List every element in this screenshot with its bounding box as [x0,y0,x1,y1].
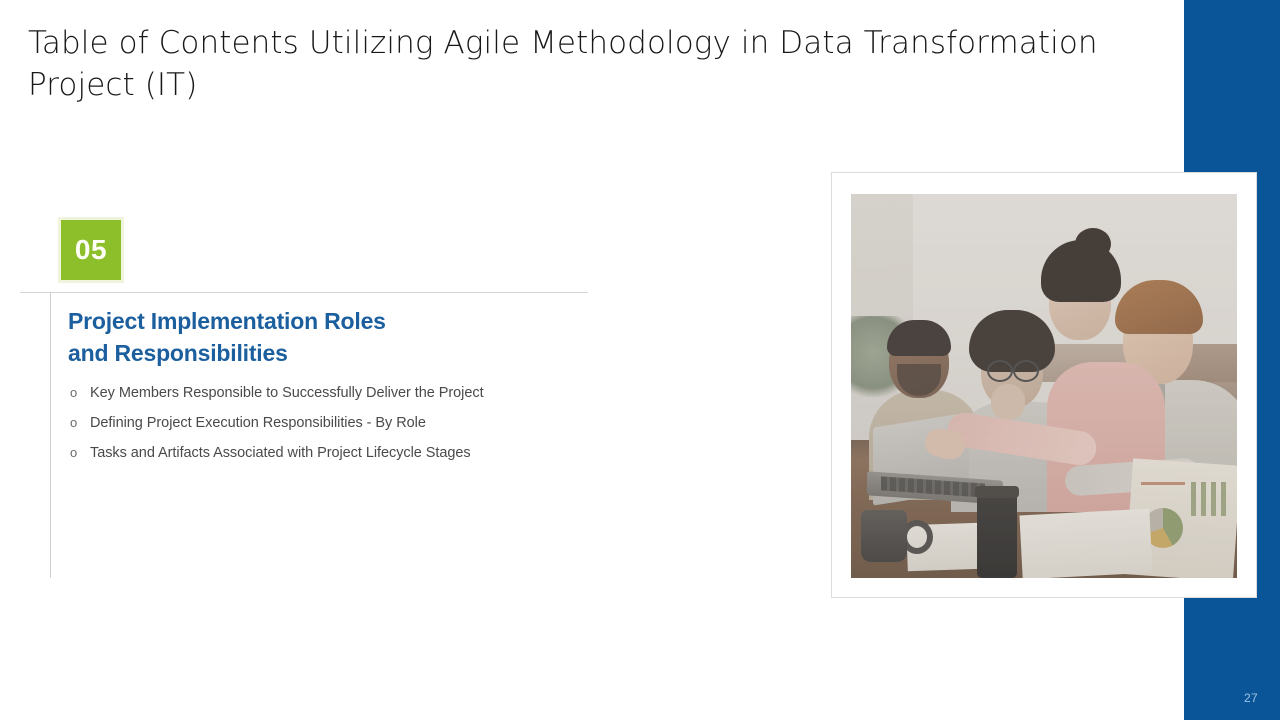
slide-canvas: Table of Contents Utilizing Agile Method… [0,0,1280,720]
bullet-marker-icon: o [70,438,90,468]
section-bullet-list: o Key Members Responsible to Successfull… [70,378,630,468]
list-item[interactable]: o Defining Project Execution Responsibil… [70,408,630,438]
list-item-label: Defining Project Execution Responsibilit… [90,408,426,438]
list-item[interactable]: o Key Members Responsible to Successfull… [70,378,630,408]
vertical-divider [50,292,51,578]
section-heading: Project Implementation Roles and Respons… [68,305,528,369]
team-collaboration-photo [851,194,1237,578]
section-number-badge: 05 [58,217,124,283]
bullet-marker-icon: o [70,408,90,438]
horizontal-divider [20,292,588,293]
bullet-marker-icon: o [70,378,90,408]
list-item-label: Tasks and Artifacts Associated with Proj… [90,438,471,468]
section-number-label: 05 [75,236,107,264]
page-title: Table of Contents Utilizing Agile Method… [28,22,1108,106]
list-item-label: Key Members Responsible to Successfully … [90,378,484,408]
page-number: 27 [1244,691,1258,705]
list-item[interactable]: o Tasks and Artifacts Associated with Pr… [70,438,630,468]
